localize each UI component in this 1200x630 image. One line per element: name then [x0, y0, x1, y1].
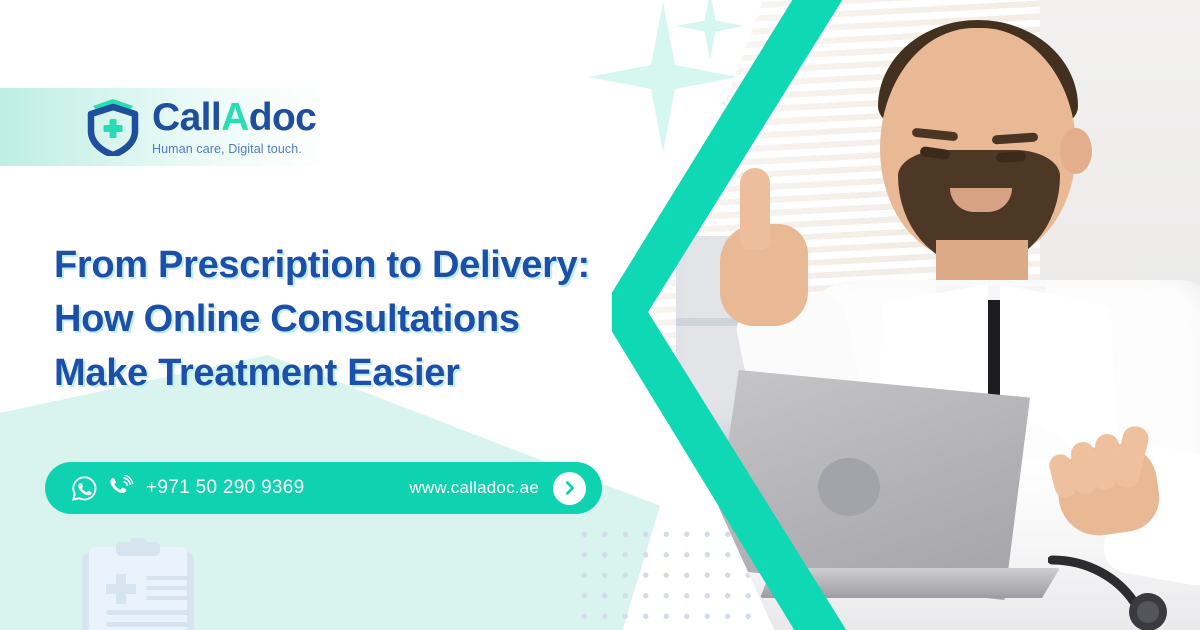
headline-line-2: How Online Consultations — [54, 293, 674, 347]
phone-number[interactable]: +971 50 290 9369 — [146, 477, 305, 499]
doctor-open-hand — [1044, 420, 1174, 540]
medical-clipboard-icon — [60, 538, 220, 630]
brand-logo[interactable]: CallAdoc Human care, Digital touch. — [84, 98, 316, 156]
brand-wordmark: CallAdoc — [152, 98, 316, 137]
doctor-ear — [1060, 128, 1092, 174]
brand-wordmark-accent: A — [221, 96, 249, 139]
marketing-banner: CallAdoc Human care, Digital touch. From… — [0, 0, 1200, 630]
whatsapp-icon[interactable] — [71, 475, 98, 502]
stethoscope — [1048, 554, 1198, 630]
headline-line-3: Make Treatment Easier — [54, 347, 674, 401]
shield-medical-cross-icon — [84, 98, 142, 156]
headline-line-1: From Prescription to Delivery: — [54, 239, 674, 293]
doctor-eye — [996, 151, 1027, 163]
brand-tagline: Human care, Digital touch. — [152, 142, 316, 156]
chevron-right-icon[interactable] — [553, 472, 586, 505]
contact-bar[interactable]: +971 50 290 9369 www.calladoc.ae — [45, 462, 602, 514]
website-url[interactable]: www.calladoc.ae — [409, 478, 539, 498]
phone-ringing-icon[interactable] — [107, 475, 134, 502]
page-title: From Prescription to Delivery: How Onlin… — [54, 239, 674, 401]
